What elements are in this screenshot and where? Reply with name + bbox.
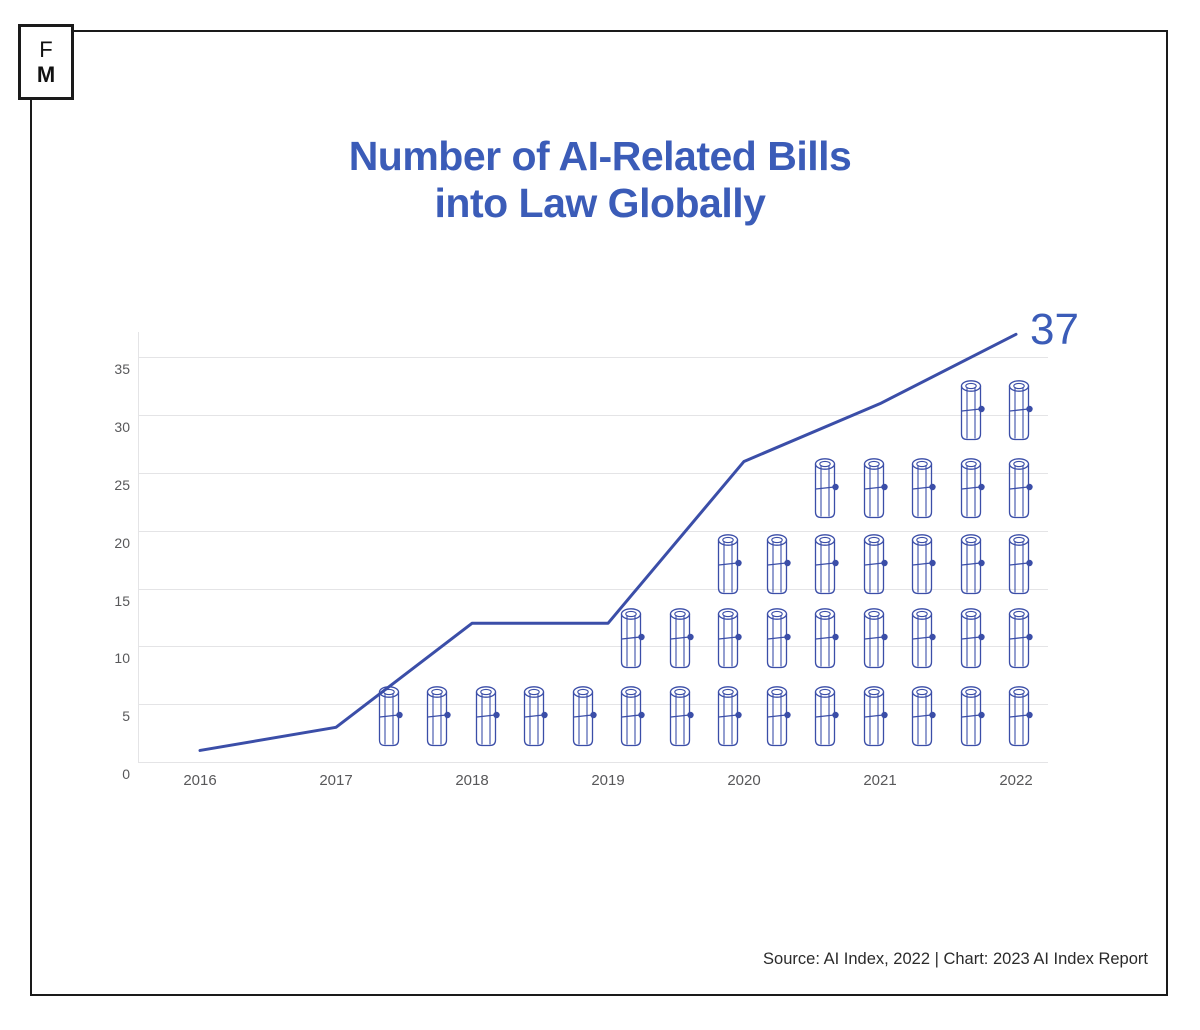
y-tick-label: 25: [96, 477, 130, 493]
y-tick-label: 0: [96, 766, 130, 782]
y-axis-labels: 05101520253035: [100, 332, 130, 762]
y-tick-label: 5: [96, 708, 130, 724]
x-tick-label: 2019: [591, 772, 624, 789]
x-tick-label: 2017: [319, 772, 352, 789]
x-axis-labels: 2016201720182019202020212022: [138, 772, 1048, 802]
y-tick-label: 35: [96, 361, 130, 377]
x-tick-label: 2022: [999, 772, 1032, 789]
pictogram-line-chart: 05101520253035 2016201720182019202020212…: [100, 320, 1090, 820]
x-tick-label: 2020: [727, 772, 760, 789]
end-value-annotation: 37: [1030, 308, 1079, 352]
trend-line: [138, 332, 1048, 762]
y-tick-label: 30: [96, 419, 130, 435]
plot-area: [138, 332, 1048, 762]
gridline: [138, 762, 1048, 763]
source-note: Source: AI Index, 2022 | Chart: 2023 AI …: [763, 950, 1148, 969]
y-tick-label: 20: [96, 535, 130, 551]
chart-page: F M Number of AI-Related Bills into Law …: [0, 0, 1200, 1030]
y-tick-label: 10: [96, 650, 130, 666]
y-tick-label: 15: [96, 593, 130, 609]
page-title: Number of AI-Related Bills into Law Glob…: [0, 133, 1200, 227]
title-line-1: Number of AI-Related Bills: [349, 133, 852, 179]
x-tick-label: 2016: [183, 772, 216, 789]
title-line-2: into Law Globally: [0, 180, 1200, 227]
x-tick-label: 2021: [863, 772, 896, 789]
logo-letter-m: M: [37, 62, 55, 87]
x-tick-label: 2018: [455, 772, 488, 789]
fm-logo: F M: [18, 24, 74, 100]
logo-letter-f: F: [39, 37, 52, 62]
